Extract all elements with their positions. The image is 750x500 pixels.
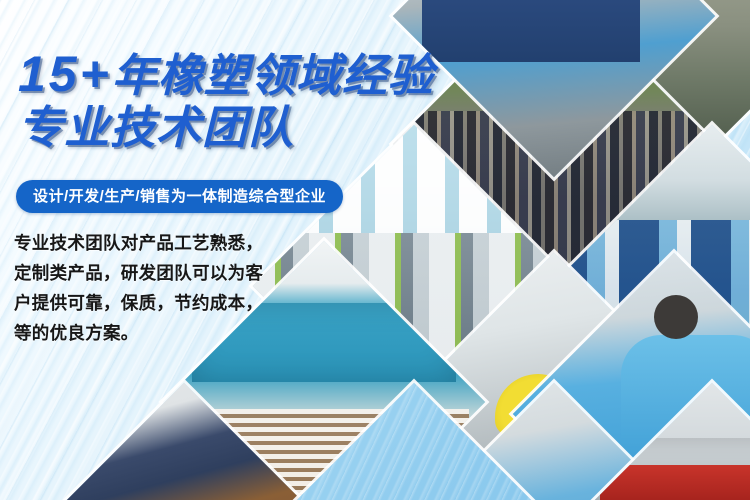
- headline-line2: 专业技术团队: [18, 102, 468, 154]
- standing-worker-photo: [513, 253, 750, 500]
- headline-line1-text: 年橡塑领域经验: [112, 50, 434, 101]
- page-title: 15+年橡塑领域经验 专业技术团队: [18, 48, 468, 154]
- promo-banner: 15+年橡塑领域经验 专业技术团队 设计/开发/生产/销售为一体制造综合型企业 …: [0, 0, 750, 500]
- cnc-machine-photo: [551, 383, 750, 500]
- status-badge: 设计/开发/生产/销售为一体制造综合型企业: [16, 180, 343, 213]
- headline-plus-sign: +: [80, 46, 112, 102]
- qc-inspection-photo: [551, 125, 750, 447]
- text-column: 15+年橡塑领域经验 专业技术团队 设计/开发/生产/销售为一体制造综合型企业 …: [0, 0, 470, 500]
- headline-years-number: 15: [18, 46, 80, 102]
- factory-machines-photo: [551, 0, 750, 147]
- body-paragraph: 专业技术团队对产品工艺熟悉，定制类产品，研发团队可以为客户提供可靠，保质，节约成…: [14, 228, 276, 348]
